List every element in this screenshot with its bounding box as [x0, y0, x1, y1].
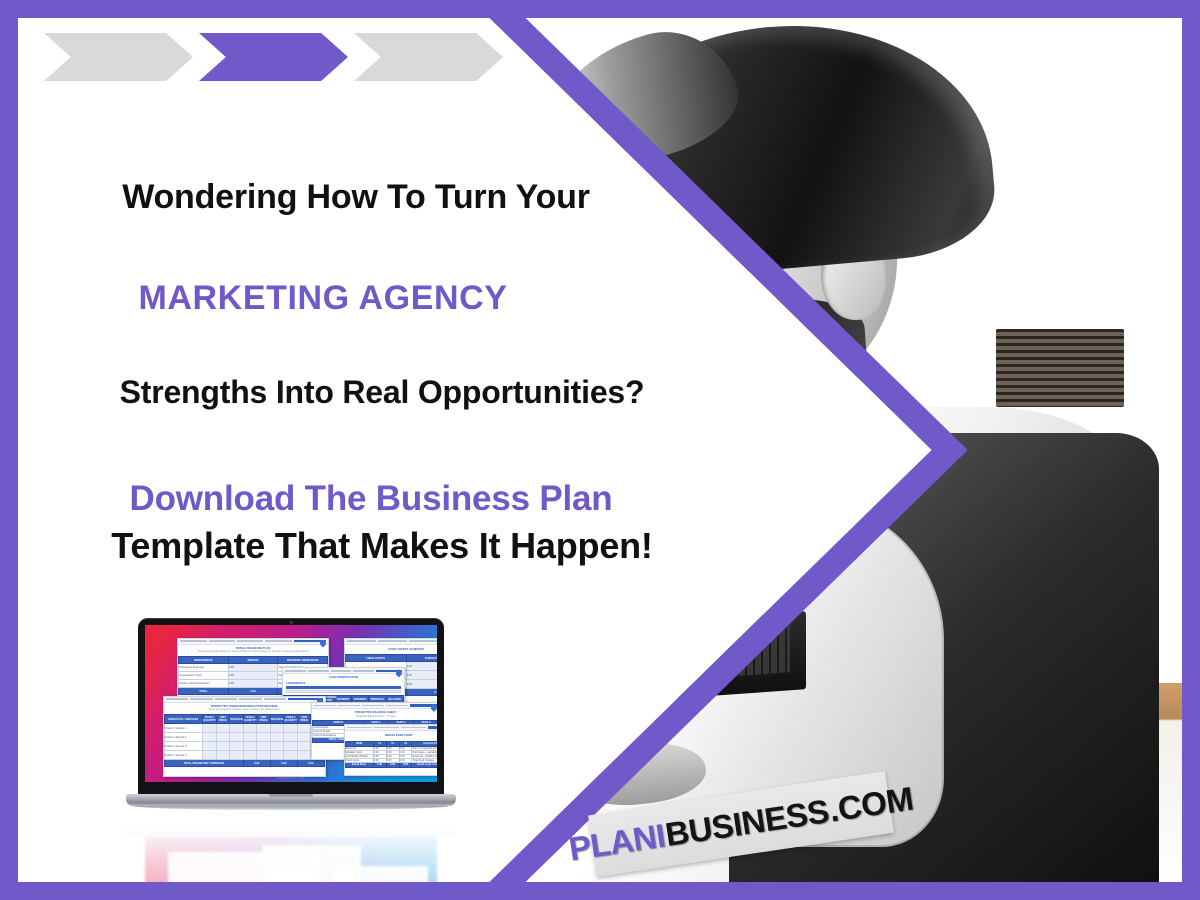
shield-icon	[396, 669, 402, 677]
doc-subtitle: Fill in the projected revenues over 3 ye…	[168, 709, 322, 712]
doc-toolbar	[345, 725, 437, 731]
reflection-base	[126, 825, 456, 836]
doc-toolbar	[164, 697, 326, 703]
poster-canvas: Wondering How To Turn Your MARKETING AGE…	[18, 18, 1182, 882]
doc-toolbar	[312, 703, 437, 709]
cta-line-1: Download The Business Plan	[56, 479, 708, 519]
doc-title: BREAK EVEN POINT	[345, 735, 437, 738]
laptop-screen: INITIAL FINANCING PLAN The financing pla…	[145, 625, 437, 782]
col-header: FINANCING RESOURCES	[278, 657, 328, 664]
laptop-reflection	[126, 824, 456, 882]
col-header: AMOUNT	[228, 657, 278, 664]
col-header: FIXED ASSETS	[345, 655, 406, 662]
document-projected-turnover[interactable]: PROJECTED TURNOVER/FORECASTED REVENUE Fi…	[163, 696, 327, 778]
shield-icon	[320, 640, 326, 648]
doc-title: FIXED ASSETS SCHEDULE	[345, 649, 437, 652]
window-sill	[18, 104, 238, 114]
poster-root: Wondering How To Turn Your MARKETING AGE…	[0, 0, 1200, 900]
progress-chevron-1[interactable]	[44, 33, 193, 81]
table-row: Product / Service 1	[164, 724, 325, 733]
doc-subtitle: LOAN DETAILS	[286, 682, 401, 685]
table-row: Product / Service 2	[164, 733, 325, 742]
progress-chevron-3[interactable]	[354, 33, 503, 81]
table-footer-row: Break Even0.000.000.00Fixed costs / marg…	[345, 762, 437, 767]
doc-subtitle: Projected Balance Sheet - 3 Years	[316, 716, 434, 719]
doc-toolbar	[178, 639, 328, 645]
table-row: Fixed Costs0.000.000.00Total fixed charg…	[345, 758, 437, 762]
laptop-notch	[269, 794, 313, 799]
doc-subtitle: The financing plan shows the financial b…	[182, 651, 324, 654]
laptop-model-label: MacBook Pro	[145, 775, 437, 780]
laptop-front-edge	[134, 806, 448, 810]
doc-title: LOAN AMORTIZATION	[283, 677, 404, 680]
table-row: Contribution Margin0.000.000.00Revenue -…	[345, 754, 437, 758]
progress-chevron-2[interactable]	[199, 33, 348, 81]
progress-chevrons	[44, 33, 503, 81]
col-header: INVESTMENTS	[179, 657, 229, 664]
reflection-screen	[145, 836, 437, 882]
cta-line-2: Template That Makes It Happen!	[56, 525, 708, 567]
doc-table: ITEM Y1 Y2 Y3 CALCULATION Revenue0.000.0…	[345, 741, 437, 768]
table-row: Product / Service 4	[164, 751, 325, 760]
col-header: PURCHASE VALUE	[406, 655, 437, 662]
doc-toolbar	[283, 668, 404, 674]
headline-line-3: Strengths Into Real Opportunities?	[56, 374, 708, 411]
headline-line-2-highlight: MARKETING AGENCY	[56, 279, 708, 318]
doc-toolbar	[345, 639, 437, 645]
headline-block: Wondering How To Turn Your MARKETING AGE…	[18, 178, 708, 567]
window-board	[18, 114, 278, 130]
doc-table: PRODUCTS / SERVICES YEAR 1 QUANTITY UNIT…	[164, 714, 326, 767]
table-header-row: INVESTMENTS AMOUNT FINANCING RESOURCES	[179, 657, 328, 664]
table-header-row: PRODUCTS / SERVICES YEAR 1 QUANTITY UNIT…	[164, 715, 325, 724]
desk-book-2	[367, 583, 389, 623]
webcam-icon	[290, 621, 293, 624]
laptop-lid: INITIAL FINANCING PLAN The financing pla…	[138, 618, 444, 796]
table-footer-row: TOTAL PROJECTED TURNOVER0.000.000.00	[164, 760, 325, 767]
table-row: Variable Costs0.000.000.00Purchases + va…	[345, 750, 437, 754]
table-header-row: FIXED ASSETS PURCHASE VALUE	[345, 655, 437, 662]
table-row: Product / Service 3	[164, 742, 325, 751]
headline-line-1: Wondering How To Turn Your	[56, 178, 708, 217]
shield-icon	[431, 704, 437, 712]
brand-part-business: BUSINESS	[663, 792, 832, 854]
document-break-even-point[interactable]: BREAK EVEN POINT ITEM Y1 Y2 Y3 CALCULATI…	[344, 724, 437, 776]
